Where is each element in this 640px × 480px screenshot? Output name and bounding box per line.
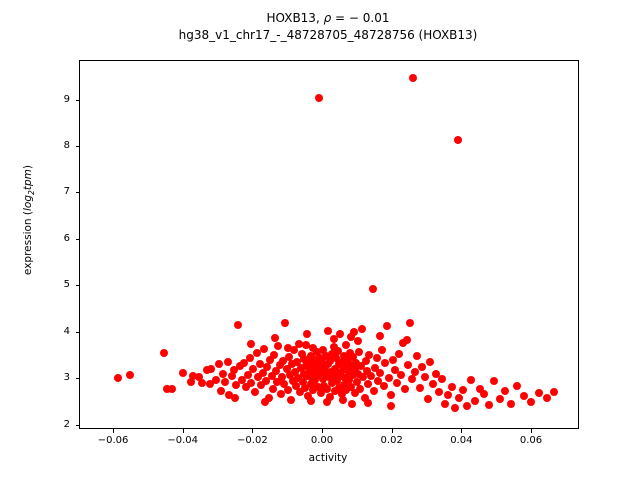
scatter-point: [429, 380, 437, 388]
x-tick-label: 0.02: [352, 435, 432, 446]
ylabel-math-sub: 2: [27, 190, 36, 195]
y-axis-label: expression (log2tpm): [22, 70, 36, 370]
scatter-point: [444, 391, 452, 399]
scatter-point: [387, 391, 395, 399]
x-tick-mark: [531, 429, 532, 433]
scatter-point: [160, 349, 168, 357]
scatter-point: [376, 332, 384, 340]
y-tick-label: 9: [38, 93, 70, 107]
x-tick-mark: [113, 429, 114, 433]
chart-title-line2: hg38_v1_chr17_-_48728705_48728756 (HOXB1…: [79, 27, 577, 44]
scatter-point: [471, 397, 479, 405]
x-tick-mark: [461, 429, 462, 433]
y-tick-label: 3: [38, 371, 70, 385]
scatter-point: [496, 395, 504, 403]
scatter-point: [424, 395, 432, 403]
scatter-point: [397, 371, 405, 379]
y-tick-mark: [76, 332, 80, 333]
scatter-point: [247, 340, 255, 348]
scatter-point: [324, 327, 332, 335]
scatter-point: [355, 348, 363, 356]
scatter-point: [413, 352, 421, 360]
scatter-point: [251, 388, 259, 396]
scatter-point: [459, 386, 467, 394]
scatter-point: [403, 336, 411, 344]
x-tick-label: −0.02: [212, 435, 292, 446]
x-tick-label: 0.06: [491, 435, 571, 446]
scatter-point: [527, 398, 535, 406]
y-tick-label: 5: [38, 278, 70, 292]
scatter-point: [454, 136, 462, 144]
scatter-point: [179, 369, 187, 377]
scatter-point: [364, 380, 372, 388]
scatter-point: [435, 388, 443, 396]
x-tick-label: 0.04: [421, 435, 501, 446]
scatter-point: [260, 345, 268, 353]
scatter-point: [409, 74, 417, 82]
scatter-point: [271, 334, 279, 342]
scatter-point: [323, 398, 331, 406]
scatter-point: [401, 385, 409, 393]
scatter-point: [535, 389, 543, 397]
scatter-point: [467, 376, 475, 384]
scatter-point: [339, 396, 347, 404]
x-tick-mark: [183, 429, 184, 433]
y-tick-label: 8: [38, 139, 70, 153]
scatter-point: [217, 387, 225, 395]
scatter-point: [364, 399, 372, 407]
scatter-point: [247, 379, 255, 387]
scatter-plot-area: [80, 61, 578, 428]
scatter-point: [441, 400, 449, 408]
x-tick-label: −0.06: [73, 435, 153, 446]
scatter-point: [287, 396, 295, 404]
scatter-point: [438, 375, 446, 383]
y-tick-mark: [76, 100, 80, 101]
scatter-point: [404, 361, 412, 369]
scatter-point: [231, 394, 239, 402]
scatter-point: [550, 388, 558, 396]
scatter-point: [302, 341, 310, 349]
scatter-point: [303, 330, 311, 338]
y-tick-mark: [76, 146, 80, 147]
scatter-point: [354, 337, 362, 345]
scatter-point: [395, 350, 403, 358]
scatter-point: [356, 385, 364, 393]
scatter-point: [284, 386, 292, 394]
scatter-point: [383, 322, 391, 330]
scatter-point: [281, 319, 289, 327]
scatter-point: [380, 382, 388, 390]
scatter-point: [221, 378, 229, 386]
y-tick-mark: [76, 425, 80, 426]
rho-value: = − 0.01: [331, 11, 389, 25]
scatter-point: [501, 387, 509, 395]
y-tick-label: 7: [38, 185, 70, 199]
title-gene-rho-prefix: HOXB13,: [267, 11, 324, 25]
y-tick-mark: [76, 192, 80, 193]
scatter-point: [406, 319, 414, 327]
scatter-point: [418, 363, 426, 371]
scatter-point: [330, 335, 338, 343]
scatter-point: [480, 390, 488, 398]
chart-title: HOXB13, ρ = − 0.01 hg38_v1_chr17_-_48728…: [79, 10, 577, 43]
ylabel-prefix: expression (: [22, 211, 34, 275]
y-tick-mark: [76, 285, 80, 286]
ylabel-math-base: log: [22, 195, 34, 211]
scatter-point: [543, 394, 551, 402]
ylabel-math-rest: tpm: [22, 169, 34, 190]
x-tick-label: 0.00: [282, 435, 362, 446]
x-tick-mark: [252, 429, 253, 433]
scatter-point: [416, 384, 424, 392]
scatter-point: [411, 368, 419, 376]
scatter-point: [393, 379, 401, 387]
y-tick-label: 6: [38, 232, 70, 246]
scatter-point: [114, 374, 122, 382]
scatter-point: [373, 354, 381, 362]
scatter-point: [507, 400, 515, 408]
scatter-point: [284, 344, 292, 352]
plot-axes: −0.06−0.04−0.020.000.020.040.06 23456789: [79, 60, 579, 429]
scatter-point: [451, 404, 459, 412]
scatter-point: [224, 358, 232, 366]
scatter-point: [234, 321, 242, 329]
scatter-point: [207, 365, 215, 373]
scatter-point: [369, 285, 377, 293]
scatter-point: [348, 400, 356, 408]
matplotlib-figure: HOXB13, ρ = − 0.01 hg38_v1_chr17_-_48728…: [0, 0, 640, 480]
y-tick-mark: [76, 378, 80, 379]
ylabel-suffix: ): [22, 165, 34, 169]
scatter-point: [385, 374, 393, 382]
scatter-point: [274, 342, 282, 350]
scatter-point: [378, 346, 386, 354]
scatter-point: [408, 375, 416, 383]
scatter-point: [485, 401, 493, 409]
x-axis-label: activity: [79, 452, 577, 464]
y-tick-label: 4: [38, 325, 70, 339]
x-tick-label: −0.04: [143, 435, 223, 446]
scatter-point: [387, 402, 395, 410]
scatter-point: [246, 354, 254, 362]
scatter-point: [513, 382, 521, 390]
scatter-point: [448, 383, 456, 391]
scatter-point: [315, 94, 323, 102]
scatter-point: [270, 351, 278, 359]
x-tick-mark: [392, 429, 393, 433]
scatter-point: [263, 363, 271, 371]
scatter-point: [212, 376, 220, 384]
scatter-point: [215, 360, 223, 368]
y-tick-mark: [76, 239, 80, 240]
x-tick-mark: [322, 429, 323, 433]
scatter-point: [261, 398, 269, 406]
scatter-point: [421, 373, 429, 381]
scatter-point: [490, 377, 498, 385]
scatter-point: [168, 385, 176, 393]
scatter-point: [376, 369, 384, 377]
scatter-point: [426, 358, 434, 366]
scatter-point: [455, 394, 463, 402]
scatter-point: [307, 397, 315, 405]
chart-title-line1: HOXB13, ρ = − 0.01: [79, 10, 577, 27]
y-tick-label: 2: [38, 418, 70, 432]
scatter-point: [370, 387, 378, 395]
scatter-point: [463, 402, 471, 410]
scatter-point: [126, 371, 134, 379]
scatter-point: [219, 370, 227, 378]
scatter-point: [342, 341, 350, 349]
scatter-point: [358, 325, 366, 333]
